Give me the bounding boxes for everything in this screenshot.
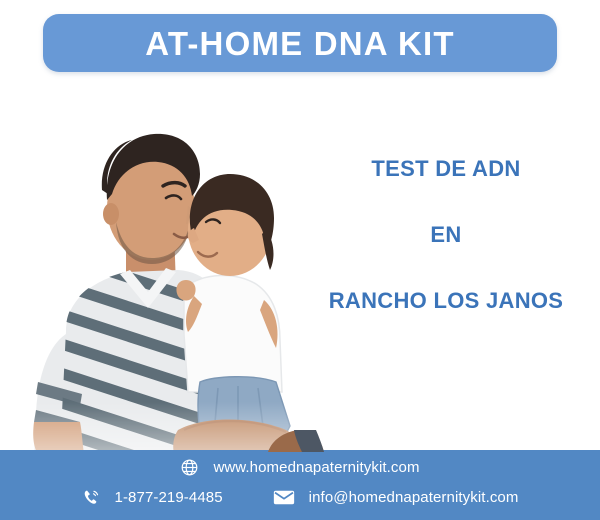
headline-line-2: EN [300,224,592,246]
email-text[interactable]: info@homednapaternitykit.com [309,489,519,506]
footer-contact-bar: www.homednapaternitykit.com 1-877-219-44… [0,450,600,520]
headline-block: TEST DE ADN EN RANCHO LOS JANOS [300,158,592,312]
website-text[interactable]: www.homednapaternitykit.com [213,459,419,476]
footer-phone-email-row: 1-877-219-4485 info@homednapaternitykit.… [0,488,600,507]
photo-overhang [268,430,326,452]
phone-icon [82,488,101,507]
footer-website-row: www.homednapaternitykit.com [0,458,600,477]
envelope-icon [273,488,295,507]
family-photo-illustration [8,82,318,454]
globe-icon [180,458,199,477]
page-title: AT-HOME DNA KIT [145,27,454,60]
photo-overhang-shape [268,430,326,452]
family-photo [8,82,318,454]
headline-line-1: TEST DE ADN [300,158,592,180]
poster: AT-HOME DNA KIT [0,0,600,520]
headline-line-3: RANCHO LOS JANOS [300,290,592,312]
header-banner: AT-HOME DNA KIT [43,14,557,72]
phone-text[interactable]: 1-877-219-4485 [115,489,223,506]
